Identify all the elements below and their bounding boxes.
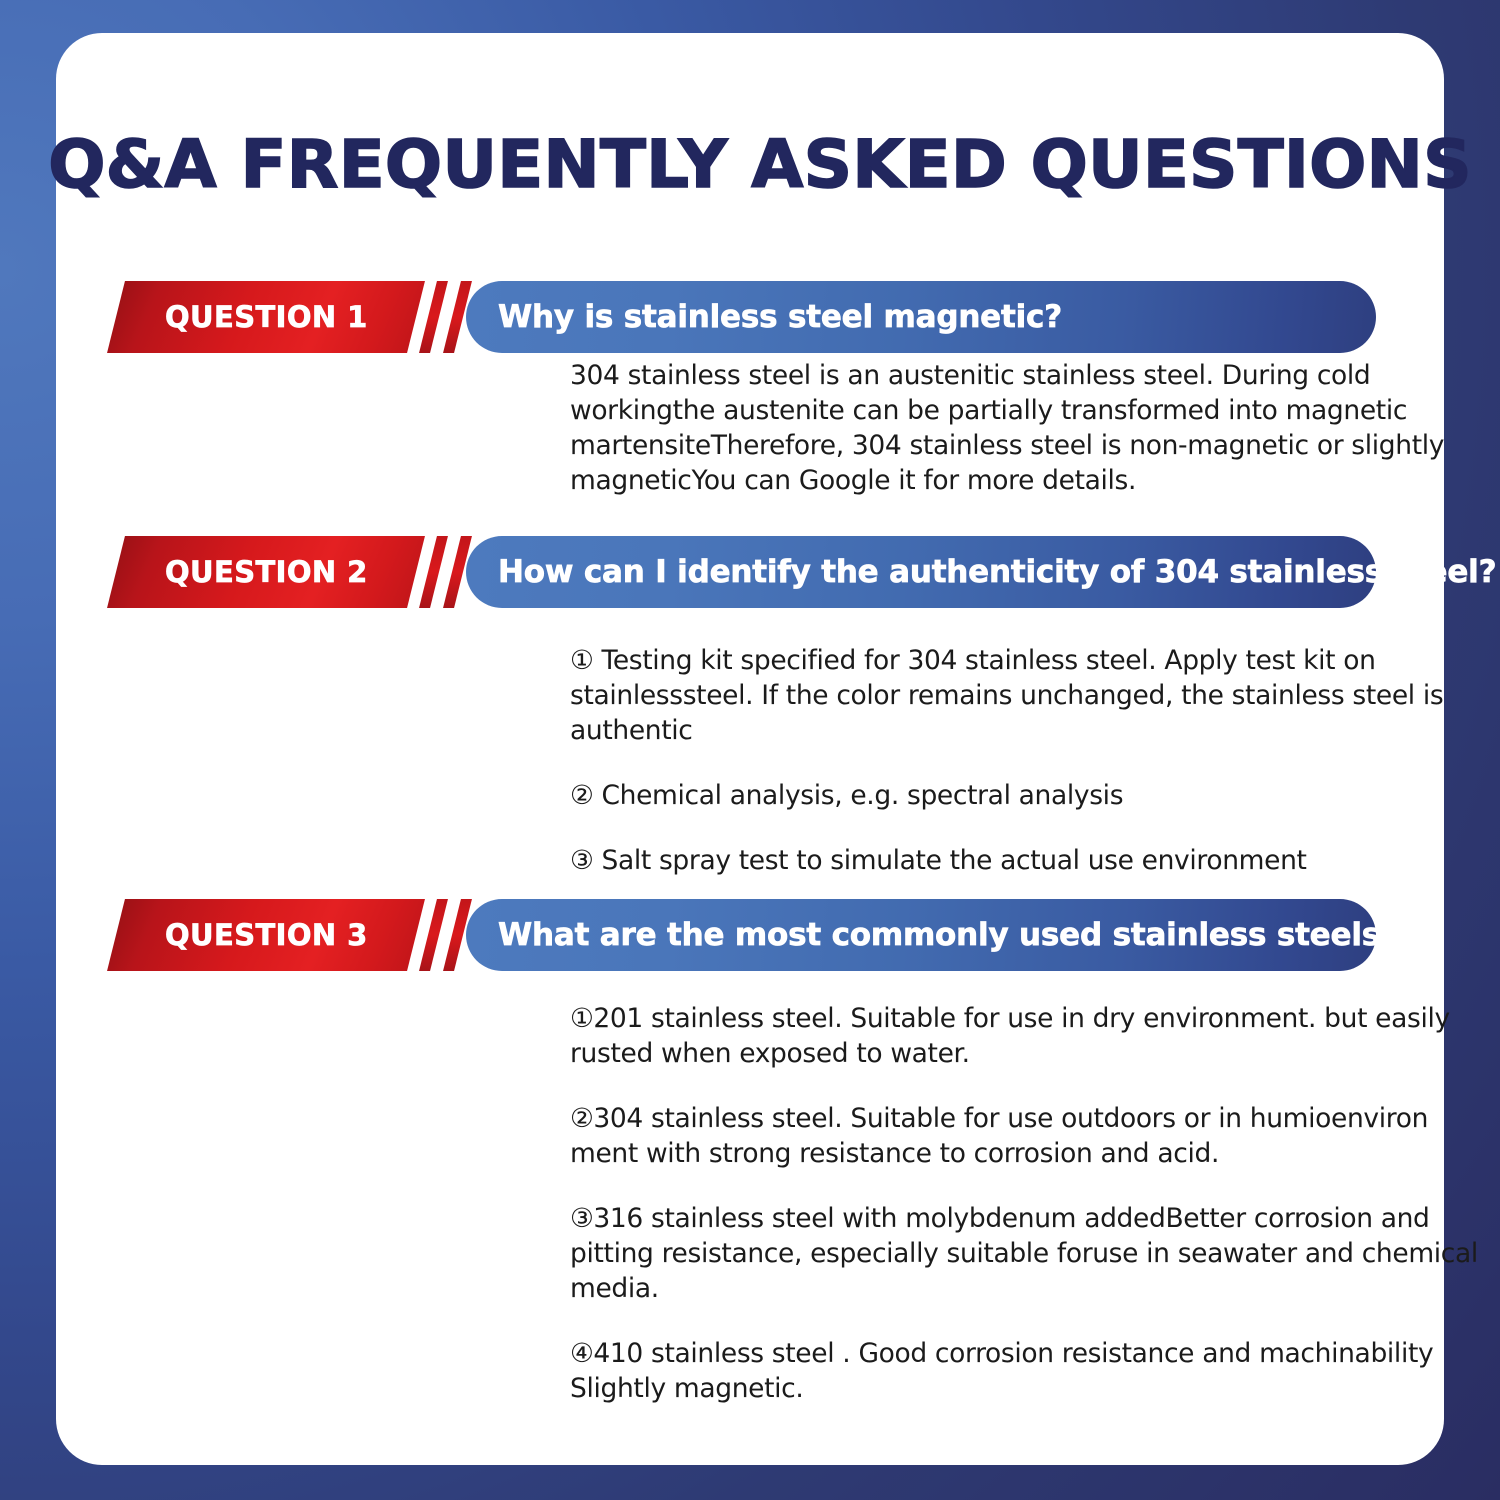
page-root: Q&A FREQUENTLY ASKED QUESTIONS QUESTION …: [0, 0, 1500, 1500]
answer-block-2: ① Testing kit specified for 304 stainles…: [570, 643, 1490, 878]
question-badge-label-1: QUESTION 1: [165, 300, 368, 334]
answer-paragraph: ②304 stainless steel. Suitable for use o…: [570, 1101, 1490, 1171]
question-row-2: QUESTION 2 How can I identify the authen…: [56, 536, 1444, 608]
slash-divider-icon-3a: [419, 899, 448, 971]
answer-paragraph: ③ Salt spray test to simulate the actual…: [570, 843, 1490, 878]
question-text-3: What are the most commonly used stainles…: [466, 917, 1398, 953]
question-pill-2[interactable]: How can I identify the authenticity of 3…: [466, 536, 1376, 608]
question-pill-1[interactable]: Why is stainless steel magnetic?: [466, 281, 1376, 353]
question-pill-3[interactable]: What are the most commonly used stainles…: [466, 899, 1376, 971]
answer-paragraph: ① Testing kit specified for 304 stainles…: [570, 643, 1490, 748]
faq-card: Q&A FREQUENTLY ASKED QUESTIONS QUESTION …: [56, 33, 1444, 1465]
question-row-3: QUESTION 3 What are the most commonly us…: [56, 899, 1444, 971]
slash-divider-icon-2a: [419, 536, 448, 608]
question-badge-label-2: QUESTION 2: [165, 555, 368, 589]
answer-block-1: 304 stainless steel is an austenitic sta…: [570, 358, 1490, 498]
question-badge-label-3: QUESTION 3: [165, 918, 368, 952]
question-text-1: Why is stainless steel magnetic?: [466, 299, 1062, 335]
answer-paragraph: ①201 stainless steel. Suitable for use i…: [570, 1001, 1490, 1071]
answer-paragraph: 304 stainless steel is an austenitic sta…: [570, 358, 1490, 498]
question-badge-2[interactable]: QUESTION 2: [107, 536, 425, 608]
question-badge-1[interactable]: QUESTION 1: [107, 281, 425, 353]
page-title: Q&A FREQUENTLY ASKED QUESTIONS: [148, 111, 1372, 219]
answer-paragraph: ④410 stainless steel . Good corrosion re…: [570, 1336, 1490, 1406]
answer-paragraph: ② Chemical analysis, e.g. spectral analy…: [570, 778, 1490, 813]
answer-block-3: ①201 stainless steel. Suitable for use i…: [570, 1001, 1490, 1406]
slash-divider-icon-1a: [419, 281, 448, 353]
question-row-1: QUESTION 1 Why is stainless steel magnet…: [56, 281, 1444, 353]
answer-paragraph: ③316 stainless steel with molybdenum add…: [570, 1201, 1490, 1306]
question-badge-3[interactable]: QUESTION 3: [107, 899, 425, 971]
question-text-2: How can I identify the authenticity of 3…: [466, 554, 1496, 590]
